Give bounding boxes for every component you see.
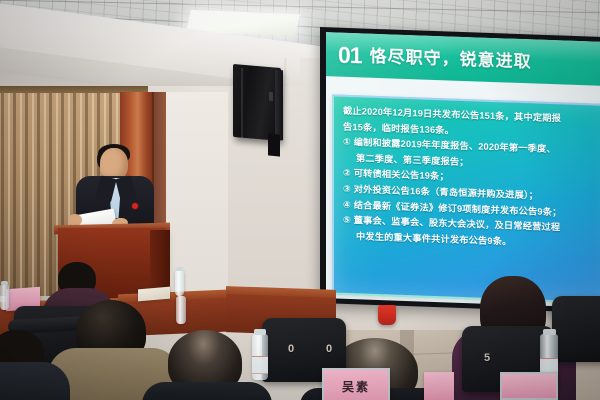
bottle-cap <box>1 281 8 285</box>
presenter-lapel-pin <box>132 203 138 209</box>
wall-speaker-side <box>275 70 283 141</box>
chair-number: 0 <box>288 343 294 355</box>
water-bottle <box>176 296 186 324</box>
chair-number: 5 <box>484 352 490 364</box>
chair-number: 0 <box>326 343 332 355</box>
wall-speaker-seam <box>241 68 243 138</box>
wall-panel <box>166 92 228 297</box>
name-placard: 吴素 <box>322 368 390 400</box>
slide-number: 01 <box>338 43 362 67</box>
audience-torso <box>142 382 272 400</box>
bottle-label <box>252 356 268 374</box>
wall-speaker-bracket <box>268 133 280 156</box>
red-cup <box>378 305 396 325</box>
conference-room-photo: 01 恪尽职守，锐意进取 截止2020年12月19日共发布公告151条，其中定期… <box>0 0 600 400</box>
slide-header: 01 恪尽职守，锐意进取 <box>326 32 600 86</box>
projection-screen: 01 恪尽职守，锐意进取 截止2020年12月19日共发布公告151条，其中定期… <box>326 32 600 308</box>
wall-speaker-led <box>269 92 273 101</box>
name-placard-text: 吴素 <box>342 378 370 395</box>
bottle-cap <box>176 267 183 271</box>
slide-title: 恪尽职守，锐意进取 <box>370 47 532 70</box>
office-chair <box>552 296 600 362</box>
water-bottle <box>175 270 184 296</box>
bottle-cap <box>254 329 266 335</box>
name-placard <box>424 372 454 400</box>
slide-body: 截止2020年12月19日共发布公告151条，其中定期报告15条，临时报告136… <box>332 94 600 304</box>
bottle-cap <box>543 329 556 335</box>
audience-torso <box>0 362 70 400</box>
water-bottle <box>0 284 9 310</box>
name-placard <box>500 372 558 400</box>
